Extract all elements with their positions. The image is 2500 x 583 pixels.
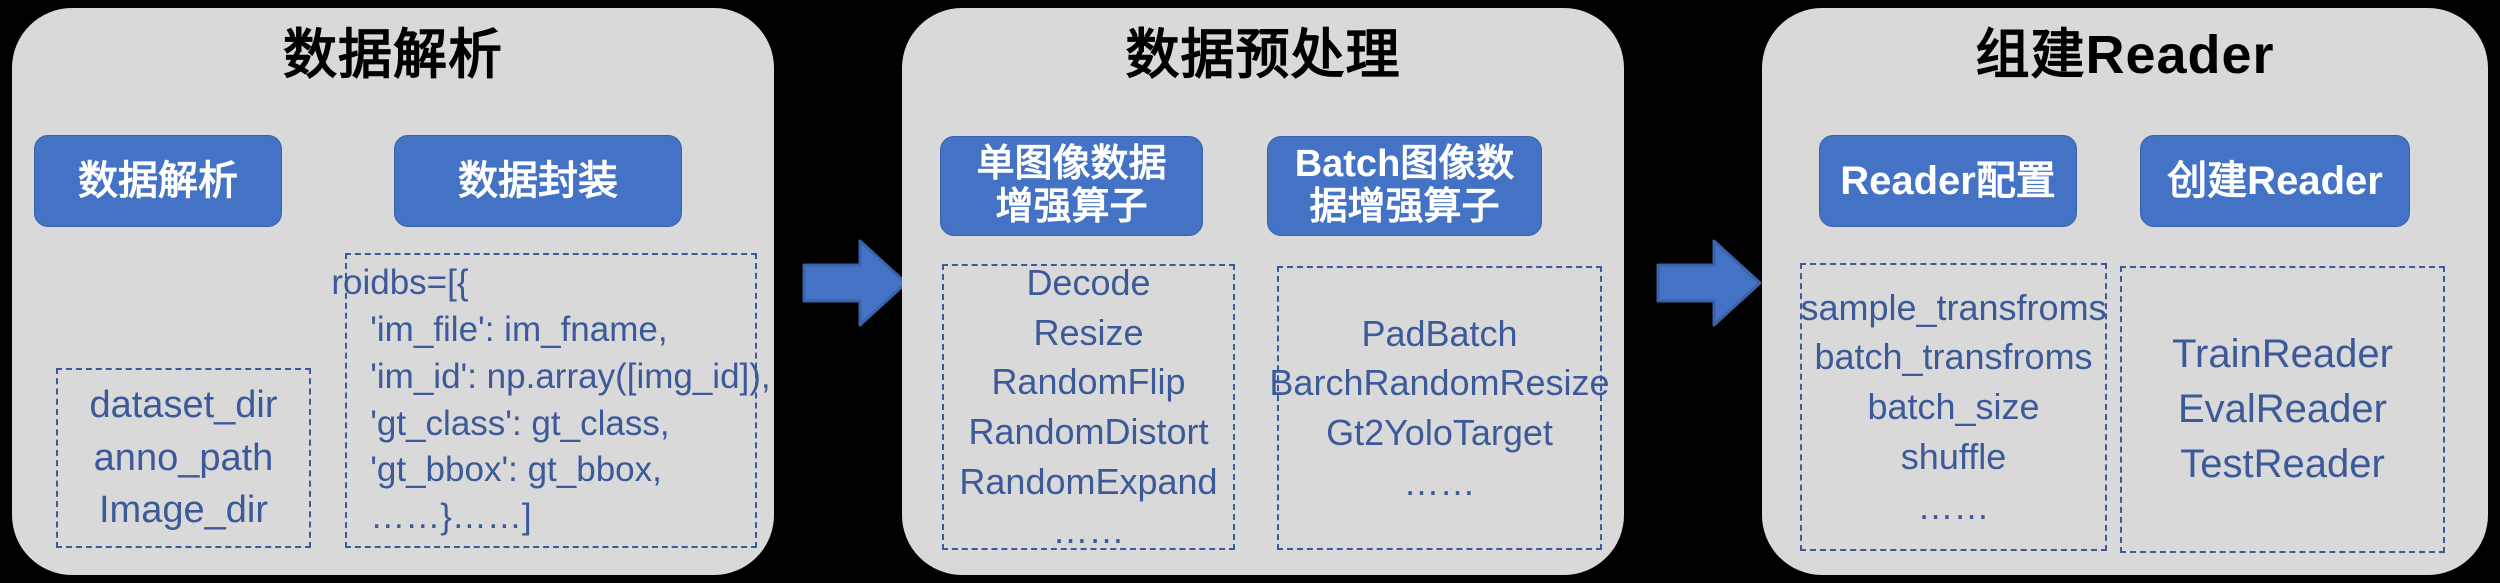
- detail-box-reader-config: sample_transfroms batch_transfroms batch…: [1800, 263, 2107, 551]
- detail-text-create-reader: TrainReader EvalReader TestReader: [2172, 327, 2393, 493]
- detail-box-create-reader: TrainReader EvalReader TestReader: [2120, 266, 2445, 553]
- button-single-image-augment[interactable]: 单图像数据 增强算子: [940, 136, 1203, 236]
- arrow-preprocess-to-reader: [1652, 237, 1764, 329]
- stage-panel-data-parsing: 数据解析 数据解析 数据封装 dataset_dir anno_path Ima…: [12, 8, 774, 575]
- button-create-reader[interactable]: 创建Reader: [2140, 135, 2410, 227]
- stage-panel-build-reader: 组建Reader Reader配置 创建Reader sample_transf…: [1762, 8, 2488, 575]
- diagram-canvas: 数据解析 数据解析 数据封装 dataset_dir anno_path Ima…: [0, 0, 2500, 583]
- detail-box-batch-image-augment: PadBatch BarchRandomResize Gt2YoloTarget…: [1277, 266, 1602, 550]
- detail-box-data-parse: dataset_dir anno_path Image_dir: [56, 368, 311, 548]
- detail-text-single-image-augment: Decode Resize RandomFlip RandomDistort R…: [959, 258, 1217, 556]
- detail-text-batch-image-augment: PadBatch BarchRandomResize Gt2YoloTarget…: [1269, 309, 1609, 508]
- button-batch-image-augment[interactable]: Batch图像数 据增强算子: [1267, 136, 1542, 236]
- stage-title-build-reader: 组建Reader: [1762, 26, 2488, 85]
- detail-text-data-encapsulation: roidbs=[{ 'im_file': im_fname, 'im_id': …: [331, 260, 770, 541]
- detail-box-data-encapsulation: roidbs=[{ 'im_file': im_fname, 'im_id': …: [345, 253, 757, 548]
- button-data-parse[interactable]: 数据解析: [34, 135, 282, 227]
- detail-text-reader-config: sample_transfroms batch_transfroms batch…: [1800, 283, 2106, 531]
- stage-title-data-parsing: 数据解析: [12, 26, 774, 85]
- button-reader-config[interactable]: Reader配置: [1819, 135, 2077, 227]
- detail-box-single-image-augment: Decode Resize RandomFlip RandomDistort R…: [942, 264, 1235, 550]
- stage-title-data-preprocessing: 数据预处理: [902, 26, 1624, 85]
- detail-text-data-parse: dataset_dir anno_path Image_dir: [89, 379, 277, 536]
- button-data-encapsulation[interactable]: 数据封装: [394, 135, 682, 227]
- stage-panel-data-preprocessing: 数据预处理 单图像数据 增强算子 Batch图像数 据增强算子 Decode R…: [902, 8, 1624, 575]
- arrow-parse-to-preprocess: [798, 237, 910, 329]
